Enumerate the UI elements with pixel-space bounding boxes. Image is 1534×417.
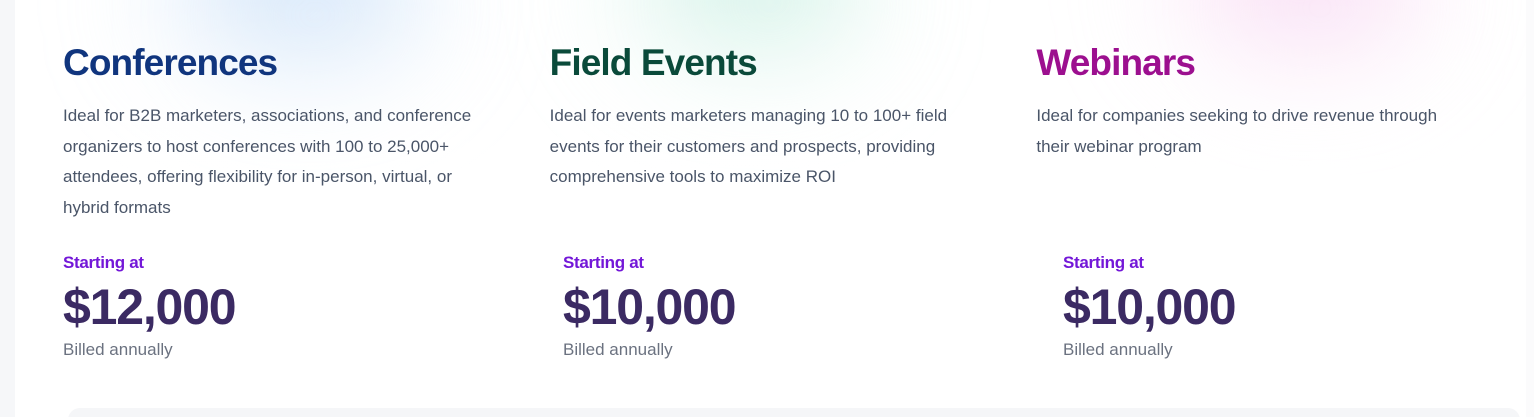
billing-note-webinars: Billed annually [1063,338,1235,362]
tier-description-webinars: Ideal for companies seeking to drive rev… [1036,101,1446,162]
starting-at-label-field-events: Starting at [563,252,735,274]
bottom-comparison-panel [68,408,1520,417]
price-block-webinars: Starting at $10,000 Billed annually [1063,252,1235,362]
billing-note-field-events: Billed annually [563,338,735,362]
starting-at-label-conferences: Starting at [63,252,235,274]
price-amount-conferences: $12,000 [63,278,235,336]
tier-title-webinars: Webinars [1036,41,1483,85]
price-amount-field-events: $10,000 [563,278,735,336]
price-block-field-events: Starting at $10,000 Billed annually [563,252,735,362]
pricing-tiers-page: Conferences Ideal for B2B marketers, ass… [0,0,1534,417]
starting-at-label-webinars: Starting at [1063,252,1235,274]
tier-title-conferences: Conferences [63,41,510,85]
page-gutter-right [1526,0,1534,417]
billing-note-conferences: Billed annually [63,338,235,362]
price-amount-webinars: $10,000 [1063,278,1235,336]
tier-description-conferences: Ideal for B2B marketers, associations, a… [63,101,473,223]
price-block-conferences: Starting at $12,000 Billed annually [63,252,235,362]
page-gutter-left [0,0,15,417]
tier-description-field-events: Ideal for events marketers managing 10 t… [550,101,960,193]
pricing-tier-list: Conferences Ideal for B2B marketers, ass… [63,0,1523,400]
tier-title-field-events: Field Events [550,41,997,85]
